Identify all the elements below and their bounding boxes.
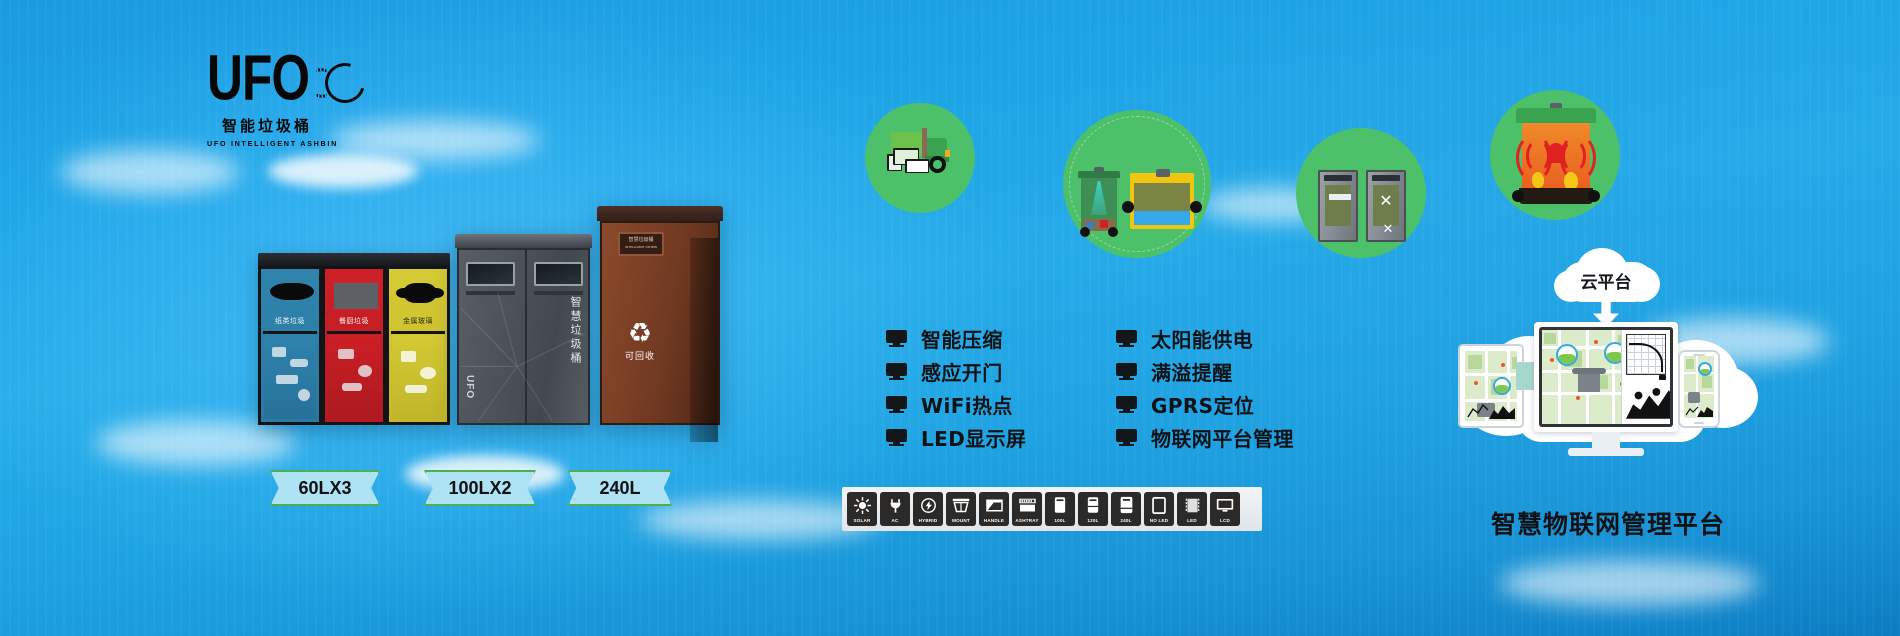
spec-label: 100L <box>1054 518 1065 524</box>
promo-banner: UFO 智能垃圾桶 UFO INTELLIGENT ASHBIN 纸类垃圾 餐厨… <box>0 0 1900 636</box>
bin-trio-lid <box>258 253 450 266</box>
hybrid-power-icon <box>913 492 943 518</box>
logo-english-name: UFO INTELLIGENT ASHBIN <box>207 139 327 148</box>
spec-hybrid: HYBRID <box>913 492 943 526</box>
phone-screen <box>1684 356 1714 418</box>
area-chart <box>1626 383 1670 419</box>
bin-duo-body: 智慧垃圾桶 UFO <box>457 248 590 425</box>
feature-label: 物联网平台管理 <box>1151 423 1294 452</box>
monitor-icon <box>886 330 907 347</box>
cloud-decor <box>1500 560 1760 606</box>
map-bubble <box>1556 344 1578 366</box>
cloud-decor <box>268 154 418 188</box>
wall-mount-icon <box>946 492 976 518</box>
map-pane <box>1542 330 1621 424</box>
spec-no-led: NO LED <box>1144 492 1174 526</box>
feature-label: WiFi热点 <box>921 390 1013 419</box>
spec-120l: 120L <box>1078 492 1108 526</box>
bin-solo-screen: 智慧垃圾桶 INTELLIGENT ASHBIN <box>618 232 664 256</box>
feature-label: 智能压缩 <box>921 324 1003 353</box>
bin-slot-icon <box>270 283 314 300</box>
growth-chart <box>1626 334 1666 375</box>
spec-mount: MOUNT <box>946 492 976 526</box>
spec-label: HANDLE <box>984 518 1004 524</box>
bin-slot-icon <box>403 283 437 303</box>
capacity-label-100lx2: 100LX2 <box>424 470 536 506</box>
iot-platform-illustration: 云平台 <box>1456 240 1756 470</box>
no-led-icon <box>1144 492 1174 518</box>
monitor-base <box>1568 448 1644 456</box>
bin-solo-screen-line2: INTELLIGENT ASHBIN <box>625 244 657 251</box>
bin-panel-label: 金属玻璃 <box>389 316 447 326</box>
product-bin-duo: 智慧垃圾桶 UFO <box>457 234 590 425</box>
capacity-label-60lx3: 60LX3 <box>270 470 380 506</box>
power-plug-icon <box>880 492 910 518</box>
bin-120l-icon <box>1078 492 1108 518</box>
spec-led: LED <box>1177 492 1207 526</box>
cloud-platform-badge: 云平台 <box>1546 248 1666 304</box>
led-panel-icon <box>1177 492 1207 518</box>
fire-alarm-bin-icon <box>1516 108 1596 204</box>
product-bin-solo: 智慧垃圾桶 INTELLIGENT ASHBIN ♻ 可回收 <box>600 206 720 425</box>
spec-solar: SOLAR <box>847 492 877 526</box>
cloud-decor <box>330 120 540 160</box>
spec-icon-strip: SOLAR AC HYBRID MOUNT HANDLE <box>842 487 1262 531</box>
bin-lower-graphic <box>328 335 380 419</box>
spec-label: LED <box>1187 518 1197 524</box>
ashtray-icon <box>1012 492 1042 518</box>
spec-label: NO LED <box>1150 518 1169 524</box>
product-bin-trio: 纸类垃圾 餐厨垃圾 金属玻璃 <box>258 253 450 425</box>
bin-solo-screen-line1: 智慧垃圾桶 <box>628 237 653 244</box>
logo-chinese-name: 智能垃圾桶 <box>207 115 327 136</box>
bin-panel-metal-glass: 金属玻璃 <box>386 266 450 425</box>
spec-label: ASHTRAY <box>1015 518 1038 524</box>
tablet-screen <box>1465 351 1517 421</box>
feature-label: GPRS定位 <box>1151 390 1254 419</box>
monitor-icon <box>886 429 907 446</box>
bin-divider <box>327 331 381 334</box>
lcd-screen-icon <box>1210 492 1240 518</box>
feature-label: LED显示屏 <box>921 423 1026 452</box>
feature-item: 太阳能供电 <box>1116 322 1476 355</box>
spec-handle: HANDLE <box>979 492 1009 526</box>
feature-label: 太阳能供电 <box>1151 324 1253 353</box>
cloud-platform-label: 云平台 <box>1546 248 1666 304</box>
bin-window-icon <box>332 281 380 311</box>
bin-duo-lid <box>455 234 592 248</box>
ufo-logo: UFO 智能垃圾桶 UFO INTELLIGENT ASHBIN <box>207 52 327 152</box>
fill-level-sensor-icon <box>1078 165 1200 235</box>
feature-item: GPRS定位 <box>1116 388 1476 421</box>
logo-wordmark: UFO <box>207 46 309 110</box>
ufo-ring-icon <box>316 54 327 112</box>
bin-panel-kitchen: 餐厨垃圾 <box>322 266 386 425</box>
logo-wordmark-row: UFO <box>207 52 327 114</box>
feature-item: 满溢提醒 <box>1116 355 1476 388</box>
spec-lcd: LCD <box>1210 492 1240 526</box>
capacity-label-240l: 240L <box>568 470 672 506</box>
monitor-icon <box>1116 429 1137 446</box>
spec-label: LCD <box>1220 518 1230 524</box>
bin-divider <box>263 331 317 334</box>
monitor-bezel <box>1539 327 1673 427</box>
platform-caption: 智慧物联网管理平台 <box>1443 505 1773 541</box>
monitor-icon <box>1116 396 1137 413</box>
bin-100l-icon <box>1045 492 1075 518</box>
bin-240l-icon <box>1111 492 1141 518</box>
smartphone-device <box>1678 350 1720 428</box>
tablet-device <box>1458 344 1524 428</box>
spec-ashtray: ASHTRAY <box>1012 492 1042 526</box>
monitor-screen <box>1542 330 1670 424</box>
spec-label: 120L <box>1087 518 1098 524</box>
recycle-icon: ♻ <box>616 319 664 347</box>
recycle-label: 可回收 <box>616 349 664 362</box>
feature-list-right: 太阳能供电 满溢提醒 GPRS定位 物联网平台管理 <box>1116 322 1476 454</box>
spec-label: MOUNT <box>952 518 970 524</box>
handle-icon <box>979 492 1009 518</box>
bin-solo-side <box>690 238 718 442</box>
bin-panel-paper: 纸类垃圾 <box>258 266 322 425</box>
bin-duo-texture <box>459 250 588 422</box>
spec-ac: AC <box>880 492 910 526</box>
compaction-x-icon: ✕ <box>1379 194 1392 210</box>
spec-240l: 240L <box>1111 492 1141 526</box>
sun-icon <box>847 492 877 518</box>
bin-solo-body: 智慧垃圾桶 INTELLIGENT ASHBIN ♻ 可回收 <box>600 221 720 425</box>
bin-panel-label: 餐厨垃圾 <box>325 316 383 326</box>
bin-lower-graphic <box>264 335 316 419</box>
cloud-decor <box>60 150 240 194</box>
cloud-decor <box>96 420 296 466</box>
overflow-bin-icon <box>1130 179 1194 229</box>
feature-label: 感应开门 <box>921 357 1003 386</box>
feature-item: 物联网平台管理 <box>1116 421 1476 454</box>
garbage-truck-icon <box>885 118 959 192</box>
monitor-icon <box>886 396 907 413</box>
spec-label: HYBRID <box>919 518 938 524</box>
spec-label: AC <box>891 518 898 524</box>
chart-pane <box>1621 330 1670 424</box>
spec-100l: 100L <box>1045 492 1075 526</box>
monitor-icon <box>1116 330 1137 347</box>
monitor-icon <box>886 363 907 380</box>
monitor-icon <box>1116 363 1137 380</box>
bin-panel-label: 纸类垃圾 <box>261 316 319 326</box>
recycle-mark: ♻ 可回收 <box>616 319 664 362</box>
desktop-monitor <box>1534 322 1678 432</box>
spec-label: SOLAR <box>853 518 870 524</box>
bin-lower-graphic <box>392 335 444 419</box>
compactor-bin-icon: ✕ ✕ <box>1318 170 1408 242</box>
feature-label: 满溢提醒 <box>1151 357 1233 386</box>
spec-label: 240L <box>1120 518 1131 524</box>
bin-solo-lid <box>597 206 723 221</box>
bin-divider <box>391 331 445 334</box>
